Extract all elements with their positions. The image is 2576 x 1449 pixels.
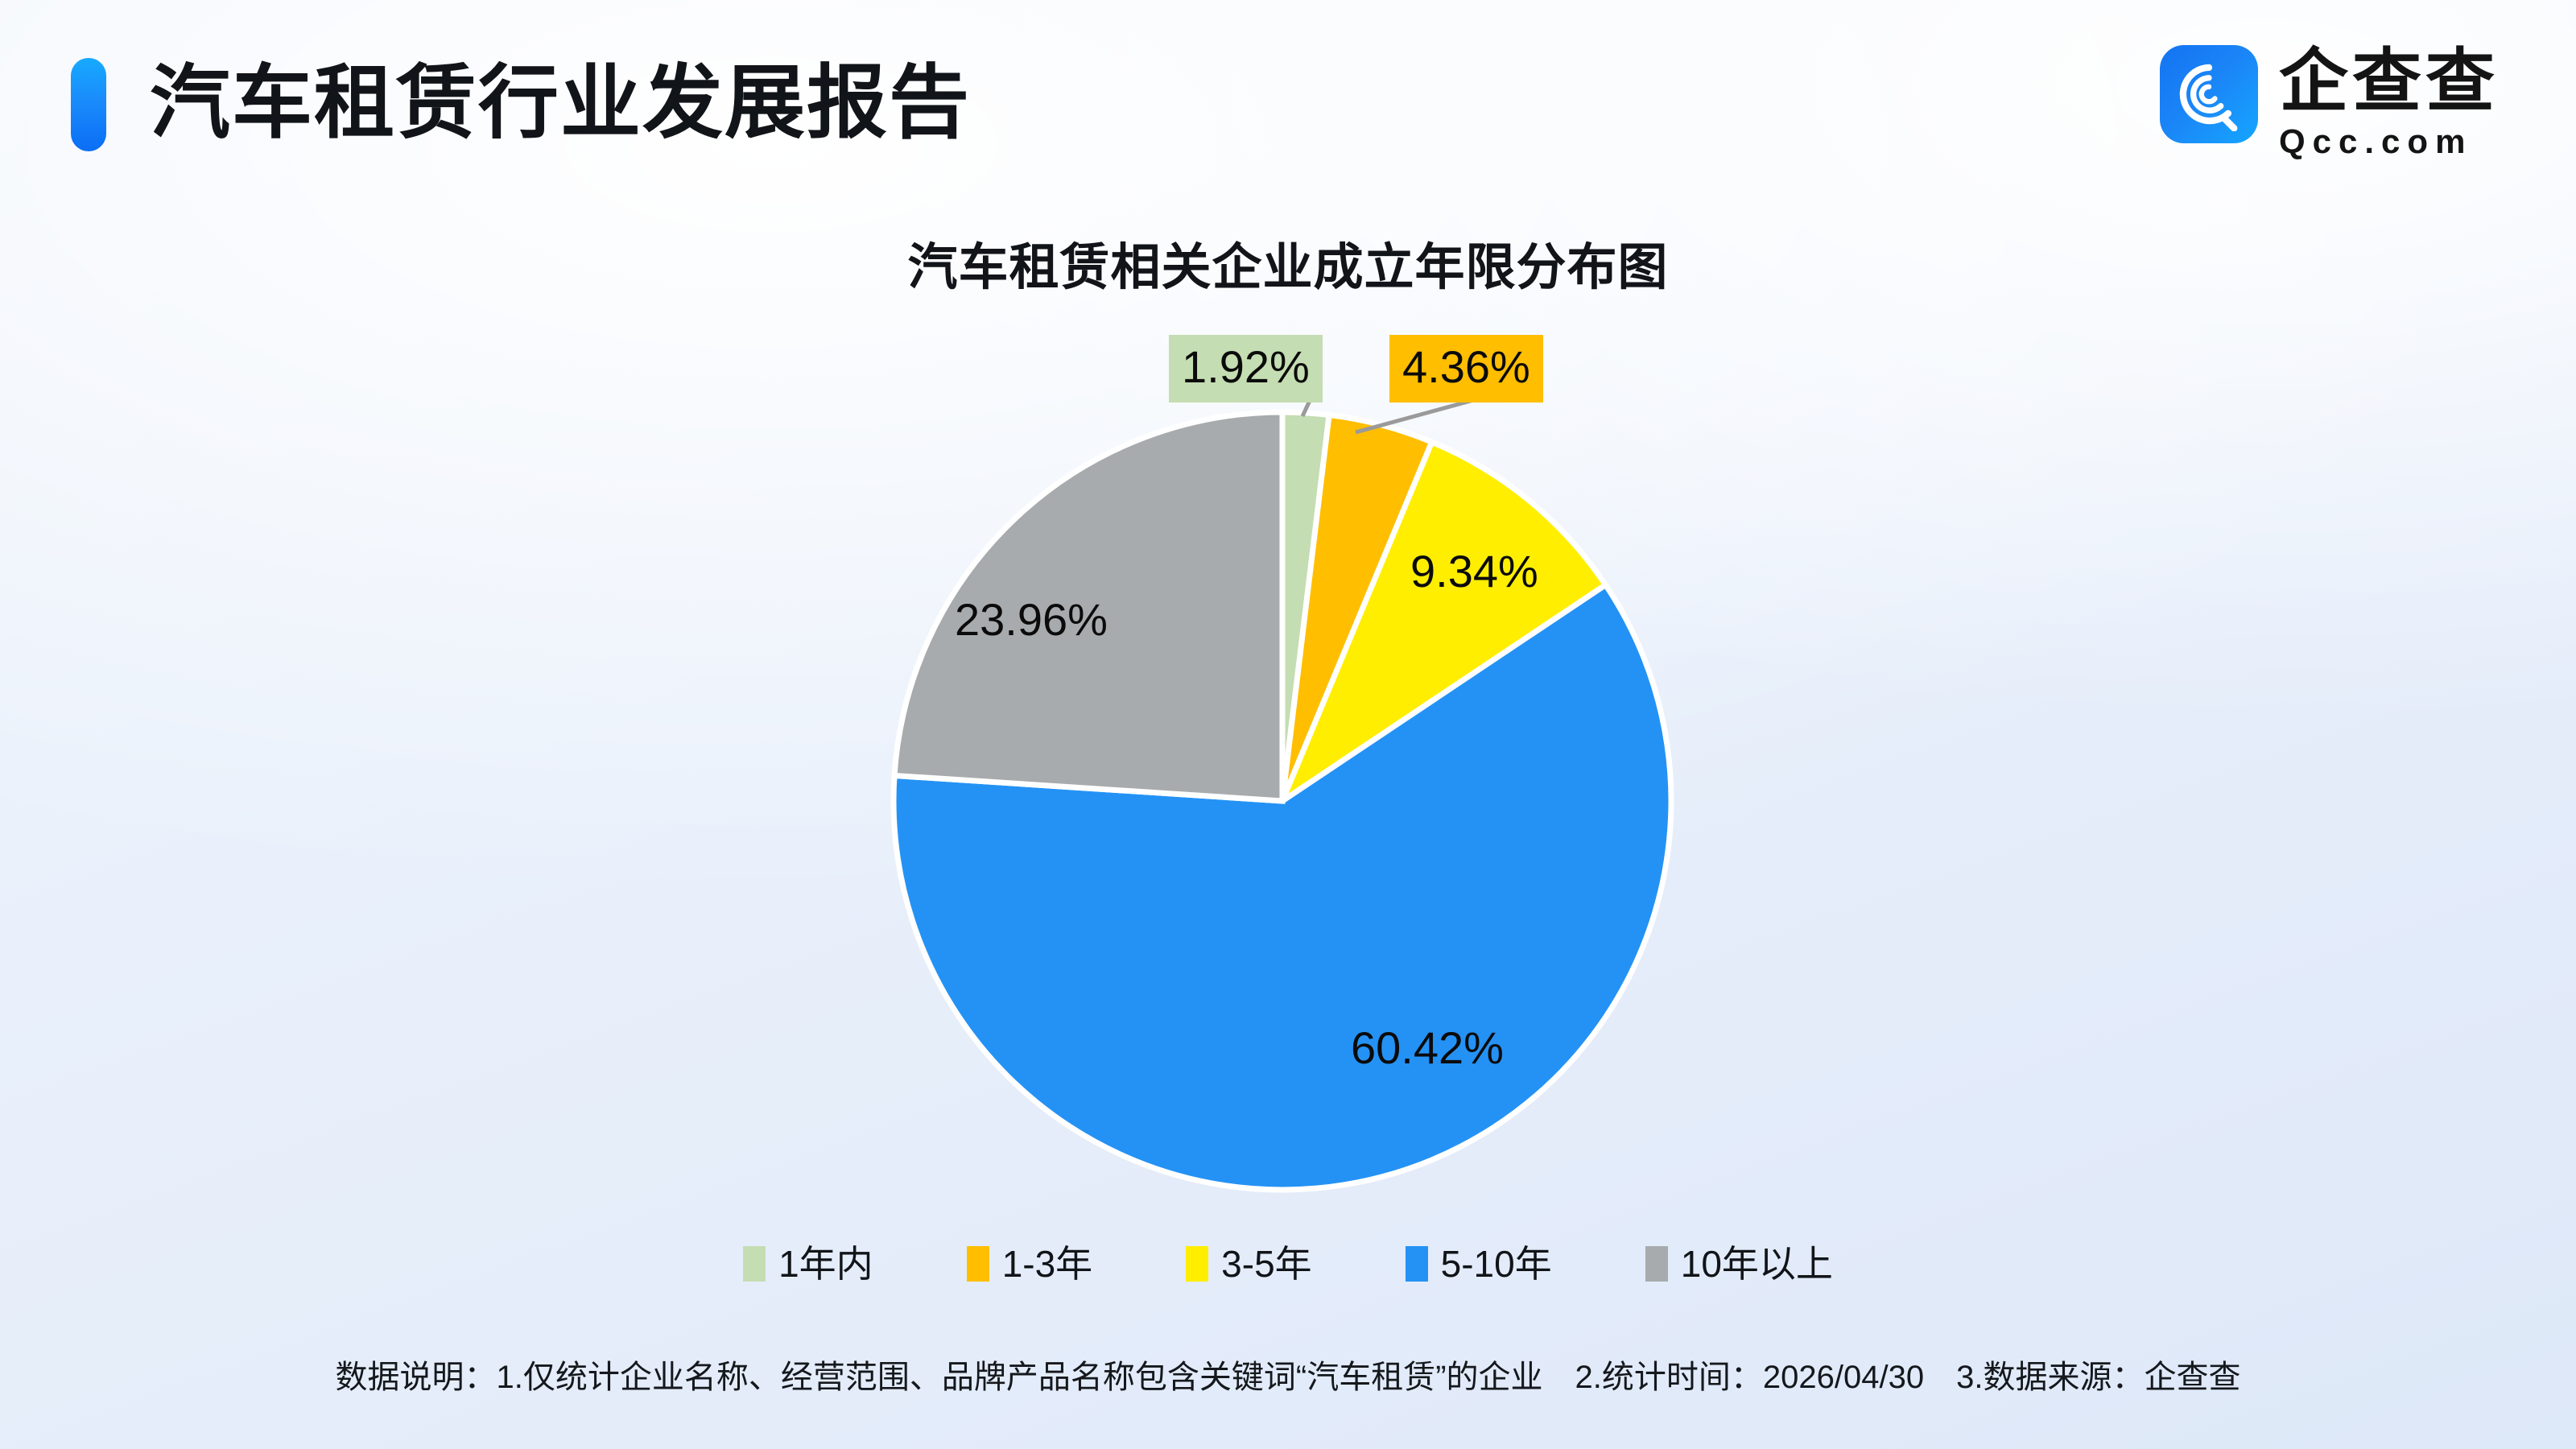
legend-item-label: 3-5年	[1221, 1244, 1311, 1284]
chart-title: 汽车租赁相关企业成立年限分布图	[0, 235, 2576, 301]
legend-item-label: 5-10年	[1441, 1244, 1552, 1284]
pie-slice-5-10年[interactable]	[894, 585, 1671, 1190]
legend-item-1年内[interactable]: 1年内	[743, 1244, 873, 1284]
legend-item-1-3年[interactable]: 1-3年	[967, 1244, 1092, 1284]
legend-item-5-10年[interactable]: 5-10年	[1406, 1244, 1552, 1284]
legend-swatch-icon	[1186, 1246, 1208, 1282]
pie-slice-1年内[interactable]	[1282, 412, 1329, 801]
legend-swatch-icon	[743, 1246, 766, 1282]
pie-slice-1-3年[interactable]	[1282, 415, 1432, 801]
legend-item-10年以上[interactable]: 10年以上	[1645, 1244, 1833, 1284]
qcc-logo[interactable]: 企查查 Qcc.com	[2160, 45, 2499, 159]
brand-name-en: Qcc.com	[2279, 124, 2499, 159]
legend-swatch-icon	[1645, 1246, 1668, 1282]
pie-label-5to10nian: 60.42%	[1351, 1024, 1504, 1072]
page-header: 汽车租赁行业发展报告 企查查 Qcc.com	[0, 0, 2576, 201]
legend-item-label: 1年内	[778, 1244, 873, 1284]
legend-swatch-icon	[1406, 1246, 1428, 1282]
pie-slice-group	[894, 412, 1671, 1190]
title-accent-bar	[71, 58, 106, 151]
pie-label-10nian-yishang: 23.96%	[955, 596, 1108, 644]
legend-item-label: 10年以上	[1681, 1244, 1833, 1284]
pie-slice-10年以上[interactable]	[894, 412, 1282, 801]
pie-chart: 23.96% 9.34% 60.42% 1.92% 4.36%	[0, 0, 2576, 1449]
leader-line-1to3nian	[1356, 385, 1529, 432]
leader-line-1nian	[1302, 378, 1320, 416]
legend-swatch-icon	[967, 1246, 989, 1282]
pie-chart-svg	[0, 0, 2576, 1449]
legend-item-3-5年[interactable]: 3-5年	[1186, 1244, 1311, 1284]
pie-callout-1nian-nei: 1.92%	[1169, 335, 1323, 402]
page-title: 汽车租赁行业发展报告	[150, 47, 971, 159]
qcc-logo-mark-icon	[2160, 45, 2258, 143]
data-note: 数据说明：1.仅统计企业名称、经营范围、品牌产品名称包含关键词“汽车租赁”的企业…	[0, 1356, 2576, 1399]
legend-item-label: 1-3年	[1002, 1244, 1092, 1284]
brand-name-cn: 企查查	[2279, 47, 2499, 116]
pie-callout-1to3nian: 4.36%	[1389, 335, 1543, 402]
chart-legend: 1年内1-3年3-5年5-10年10年以上	[0, 1244, 2576, 1284]
qcc-logo-text: 企查查 Qcc.com	[2279, 45, 2499, 159]
pie-slice-3-5年[interactable]	[1282, 442, 1606, 801]
pie-leader-lines	[1302, 378, 1529, 432]
pie-label-3to5nian: 9.34%	[1410, 547, 1538, 596]
